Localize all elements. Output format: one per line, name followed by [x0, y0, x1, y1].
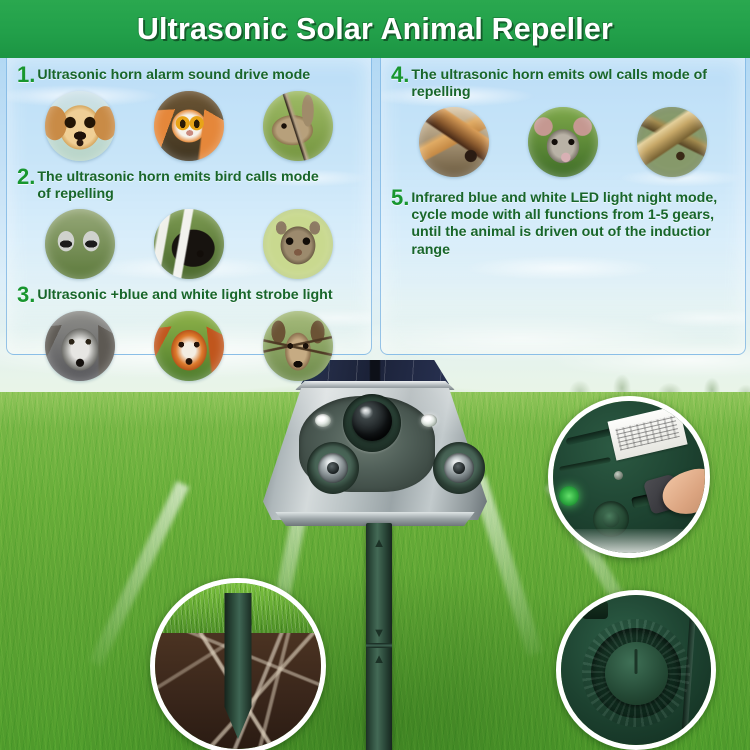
feature-item-2: 2. The ultrasonic horn emits bird calls …	[7, 161, 371, 279]
feature-item-4: 4. The ultrasonic horn emits owl calls m…	[381, 58, 745, 177]
animal-bat-icon	[419, 107, 489, 177]
header-banner: Ultrasonic Solar Animal Repeller	[0, 0, 750, 58]
feature-text-3: Ultrasonic +blue and white light strobe …	[37, 284, 332, 304]
feature-text-4: The ultrasonic horn emits owl calls mode…	[411, 64, 711, 102]
animal-rat-icon	[528, 107, 598, 177]
feature-item-3: 3. Ultrasonic +blue and white light stro…	[7, 279, 371, 381]
animal-dog-icon	[45, 91, 115, 161]
feature-number-2: 2.	[17, 166, 35, 188]
feature-number-5: 5.	[391, 187, 409, 209]
animal-wolf-icon	[45, 311, 115, 381]
feature-panel-right: 4. The ultrasonic horn emits owl calls m…	[380, 58, 746, 355]
back-panel-lower-edge	[553, 529, 705, 553]
animal-row-1	[7, 86, 371, 161]
feature-item-1: 1. Ultrasonic horn alarm sound drive mod…	[7, 58, 371, 161]
feature-panel-left: 1. Ultrasonic horn alarm sound drive mod…	[6, 58, 372, 355]
pir-motion-sensor-dome	[352, 401, 392, 441]
pole-base-grass-shadow	[339, 738, 421, 750]
pole-arrow-down-icon: ▼	[366, 626, 392, 639]
animal-row-3	[7, 306, 371, 381]
speaker-right-inner	[444, 453, 474, 483]
animal-hawk-icon	[637, 107, 707, 177]
speaker-right-core	[453, 462, 465, 474]
led-light-right	[421, 414, 437, 427]
animal-squirrel-icon	[263, 209, 333, 279]
back-panel-screw	[614, 471, 623, 480]
feature-number-1: 1.	[17, 64, 35, 86]
feature-number-4: 4.	[391, 64, 409, 86]
detail-stake-in-soil	[150, 578, 326, 750]
speaker-left-inner	[318, 453, 348, 483]
product-infographic: Ultrasonic Solar Animal Repeller 1. Ultr…	[0, 0, 750, 750]
feature-panels: 1. Ultrasonic horn alarm sound drive mod…	[0, 58, 750, 358]
animal-deer-icon	[263, 311, 333, 381]
led-light-left	[315, 414, 331, 427]
feature-text-2: The ultrasonic horn emits bird calls mod…	[37, 166, 327, 204]
ultrasonic-speaker-left	[307, 442, 359, 494]
detail-back-panel-controls	[548, 396, 710, 558]
page-title: Ultrasonic Solar Animal Repeller	[137, 11, 613, 47]
animal-row-2	[7, 204, 371, 279]
knob-housing-tab	[582, 601, 608, 619]
feature-text-5: Infrared blue and white LED light night …	[411, 187, 723, 259]
animal-cat-icon	[154, 91, 224, 161]
animal-raccoon-icon	[45, 209, 115, 279]
rotary-mode-selector-knob	[605, 642, 668, 705]
animal-skunk-icon	[154, 209, 224, 279]
pir-dome-glint	[359, 406, 372, 415]
animal-rabbit-icon	[263, 91, 333, 161]
pole-joint-seam	[366, 643, 392, 648]
feature-text-1: Ultrasonic horn alarm sound drive mode	[37, 64, 310, 84]
ultrasonic-speaker-right	[433, 442, 485, 494]
pole-arrow-up-icon: ▲	[366, 536, 392, 549]
speaker-left-core	[327, 462, 339, 474]
animal-fox-icon	[154, 311, 224, 381]
feature-number-3: 3.	[17, 284, 35, 306]
pole-arrow-up-lower-icon: ▲	[366, 652, 392, 665]
detail-mode-knob	[556, 590, 716, 750]
animal-row-4	[381, 102, 745, 177]
feature-item-5: 5. Infrared blue and white LED light nig…	[381, 177, 745, 259]
